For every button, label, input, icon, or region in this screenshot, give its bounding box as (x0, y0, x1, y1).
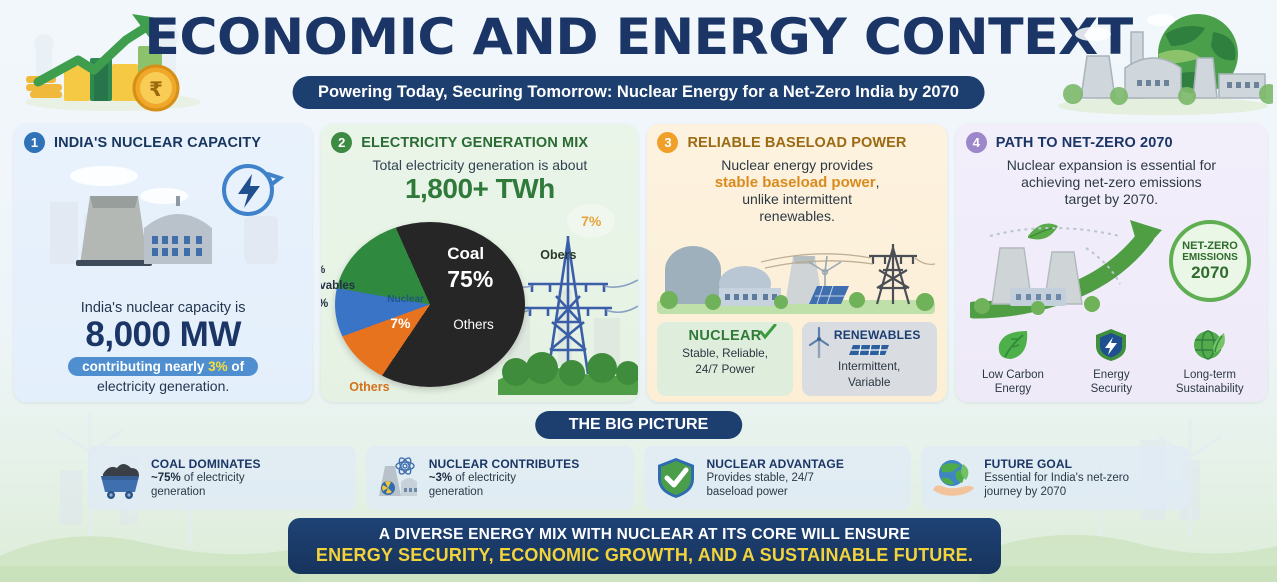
net-zero-line3: 2070 (1191, 263, 1229, 283)
bottom-banner: A DIVERSE ENERGY MIX WITH NUCLEAR AT ITS… (288, 518, 1001, 574)
card-3-lead: Nuclear energy provides stable baseload … (657, 157, 936, 224)
tile-future-text: FUTURE GOAL Essential for India's net-ze… (984, 457, 1129, 499)
tile-nuclear-title: NUCLEAR CONTRIBUTES (429, 457, 580, 471)
card-1-contribution-pill: contributing nearly 3% of (68, 357, 258, 376)
pie-slices (335, 222, 525, 387)
card-electricity-generation-mix[interactable]: 2 ELECTRICITY GENERATION MIX Total elect… (321, 124, 638, 402)
net-zero-line1: NET-ZERO (1182, 240, 1238, 252)
check-icon (759, 324, 777, 340)
card-3-title: RELIABLE BASELOAD POWER (687, 135, 906, 151)
card-2-number-badge: 2 (331, 132, 352, 153)
pie-value-renewables-bottom: 10% (321, 298, 328, 310)
tile-advantage-sub2: baseload power (707, 485, 844, 499)
pie-bubble-percent: 7% (567, 204, 615, 238)
header: ₹ ECONOMIC AND ENERGY CONTEXT Powering T… (0, 0, 1277, 120)
nuclear-plant-bolt-illustration (32, 152, 294, 282)
pie-callout-others: Obers (540, 248, 576, 262)
tile-nuclear-text: NUCLEAR CONTRIBUTES ~3% of electricity g… (429, 457, 580, 499)
card-2-total-value: 1,800+ TWh (331, 173, 628, 205)
tile-coal-bold: ~75% (151, 472, 181, 484)
card-2-title: ELECTRICITY GENERATION MIX (361, 135, 588, 151)
bottom-banner-line2: ENERGY SECURITY, ECONOMIC GROWTH, AND A … (316, 545, 973, 566)
pie-label-coal: Coal (447, 244, 484, 264)
card-3-number-badge: 3 (657, 132, 678, 153)
pie-label-nuclear: Nuclear (387, 294, 424, 305)
benefit-2-label1: Energy (1062, 369, 1160, 383)
renewables-box-sub2: Variable (806, 375, 933, 389)
renewables-box-sub1: Intermittent, (806, 359, 933, 373)
card-3-comparison-boxes: NUCLEAR Stable, Reliable, 24/7 Power REN… (657, 322, 936, 396)
benefit-low-carbon-energy[interactable]: Low Carbon Energy (964, 327, 1062, 397)
card-path-to-net-zero[interactable]: 4 PATH TO NET-ZERO 2070 Nuclear expansio… (956, 124, 1267, 402)
card-4-lead-line3: target by 2070. (966, 191, 1257, 208)
card-3-lead-comma: , (876, 174, 880, 190)
benefit-3-label2: Sustainability (1161, 383, 1259, 397)
card-1-number-badge: 1 (24, 132, 45, 153)
cards-row: 1 INDIA'S NUCLEAR CAPACITY Ind (14, 124, 1267, 402)
tile-nuclear-contributes[interactable]: NUCLEAR CONTRIBUTES ~3% of electricity g… (366, 446, 634, 510)
pie-value-coal: 75% (447, 266, 493, 293)
tile-coal-dominates[interactable]: COAL DOMINATES ~75% of electricity gener… (88, 446, 356, 510)
tile-nuclear-sub: ~3% of electricity (429, 471, 580, 485)
tile-advantage-sub: Provides stable, 24/7 (707, 471, 844, 485)
tile-future-sub: Essential for India's net-zero (984, 471, 1129, 485)
nuclear-box[interactable]: NUCLEAR Stable, Reliable, 24/7 Power (657, 322, 792, 396)
pie-value-renewables-top: 14% (321, 264, 325, 276)
coal-cart-icon (97, 456, 143, 500)
svg-text:₹: ₹ (149, 77, 163, 101)
card-3-lead-line1: Nuclear energy provides (657, 157, 936, 174)
benefit-long-term-sustainability[interactable]: Long-term Sustainability (1161, 327, 1259, 397)
benefit-2-label2: Security (1062, 383, 1160, 397)
card-1-header: 1 INDIA'S NUCLEAR CAPACITY (24, 132, 302, 153)
wind-turbine-icon (808, 326, 830, 360)
green-growth-arrow-plant-illustration (970, 212, 1180, 320)
tile-nuclear-rest: of electricity (452, 472, 516, 484)
card-1-title: INDIA'S NUCLEAR CAPACITY (54, 135, 261, 151)
tile-coal-rest: of electricity (181, 472, 245, 484)
page-subtitle: Powering Today, Securing Tomorrow: Nucle… (292, 76, 985, 109)
card-3-lead-line3: unlike intermittent (657, 191, 936, 208)
bottom-banner-line1: A DIVERSE ENERGY MIX WITH NUCLEAR AT ITS… (379, 526, 910, 544)
card-1-tail: electricity generation. (14, 378, 312, 394)
tile-future-goal[interactable]: FUTURE GOAL Essential for India's net-ze… (921, 446, 1189, 510)
card-4-lead-line1: Nuclear expansion is essential for (966, 157, 1257, 174)
tile-advantage-title: NUCLEAR ADVANTAGE (707, 457, 844, 471)
leaf-icon (993, 327, 1033, 363)
benefit-energy-security[interactable]: Energy Security (1062, 327, 1160, 397)
tile-nuclear-sub2: generation (429, 485, 580, 499)
benefit-3-label1: Long-term (1161, 369, 1259, 383)
net-zero-line2: EMISSIONS (1182, 252, 1238, 263)
benefit-1-label2: Energy (964, 383, 1062, 397)
hand-globe-leaf-icon (930, 456, 976, 500)
pill-post: of (228, 359, 245, 374)
card-4-header: 4 PATH TO NET-ZERO 2070 (966, 132, 1257, 153)
renewables-box-title: RENEWABLES (822, 328, 933, 342)
big-picture-banner: THE BIG PICTURE (535, 411, 743, 439)
card-1-value: 8,000 MW (14, 316, 312, 354)
card-4-number-badge: 4 (966, 132, 987, 153)
nuclear-box-sub2: 24/7 Power (661, 362, 788, 376)
pie-label-others-orange: Others (349, 380, 389, 394)
card-4-lead-line2: achieving net-zero emissions (966, 174, 1257, 191)
pill-highlight: 3% (208, 359, 228, 374)
solar-panel-icon (847, 343, 891, 357)
pie-value-nuclear: 7% (390, 315, 410, 331)
tile-future-title: FUTURE GOAL (984, 457, 1129, 471)
shield-bolt-icon (1093, 327, 1129, 363)
card-3-lead-highlight: stable baseload power (715, 174, 876, 191)
tile-advantage-text: NUCLEAR ADVANTAGE Provides stable, 24/7 … (707, 457, 844, 499)
card-4-lead: Nuclear expansion is essential for achie… (966, 157, 1257, 207)
card-reliable-baseload-power[interactable]: 3 RELIABLE BASELOAD POWER Nuclear energy… (647, 124, 946, 402)
tile-nuclear-bold: ~3% (429, 472, 452, 484)
nuclear-box-sub1: Stable, Reliable, (661, 346, 788, 360)
renewables-box[interactable]: RENEWABLES Intermittent, Variable (802, 322, 937, 396)
tile-coal-sub2: generation (151, 485, 261, 499)
card-4-benefit-icons: Low Carbon Energy Energy Security (964, 327, 1259, 397)
net-zero-emissions-badge: NET-ZERO EMISSIONS 2070 (1169, 220, 1251, 302)
card-3-lead-line4: renewables. (657, 208, 936, 225)
big-picture-tiles: COAL DOMINATES ~75% of electricity gener… (88, 446, 1189, 510)
tile-coal-text: COAL DOMINATES ~75% of electricity gener… (151, 457, 261, 499)
pill-pre: contributing nearly (82, 359, 208, 374)
tile-future-sub2: journey by 2070 (984, 485, 1129, 499)
card-1-text: India's nuclear capacity is 8,000 MW con… (14, 300, 312, 394)
tile-coal-title: COAL DOMINATES (151, 457, 261, 471)
globe-leaf-icon (1190, 327, 1230, 363)
benefit-1-label1: Low Carbon (964, 369, 1062, 383)
card-4-title: PATH TO NET-ZERO 2070 (996, 135, 1173, 151)
tile-nuclear-advantage[interactable]: NUCLEAR ADVANTAGE Provides stable, 24/7 … (644, 446, 912, 510)
tile-coal-sub: ~75% of electricity (151, 471, 261, 485)
card-1-lead: India's nuclear capacity is (14, 300, 312, 316)
electricity-mix-pie-chart: Coal 75% Others 7% 14% Renevables 10% Nu… (335, 222, 525, 387)
card-2-header: 2 ELECTRICITY GENERATION MIX (331, 132, 628, 153)
nuclear-plant-atom-icon (375, 456, 421, 500)
energy-infrastructure-illustration (657, 236, 935, 318)
shield-check-icon (653, 456, 699, 500)
nuclear-plant-green-globe-illustration (1053, 2, 1273, 118)
card-3-header: 3 RELIABLE BASELOAD POWER (657, 132, 936, 153)
card-2-lead: Total electricity generation is about (331, 157, 628, 173)
card-india-nuclear-capacity[interactable]: 1 INDIA'S NUCLEAR CAPACITY Ind (14, 124, 312, 402)
pie-label-renewables: Renevables (321, 280, 355, 292)
pie-label-others-inner: Others (453, 317, 494, 332)
